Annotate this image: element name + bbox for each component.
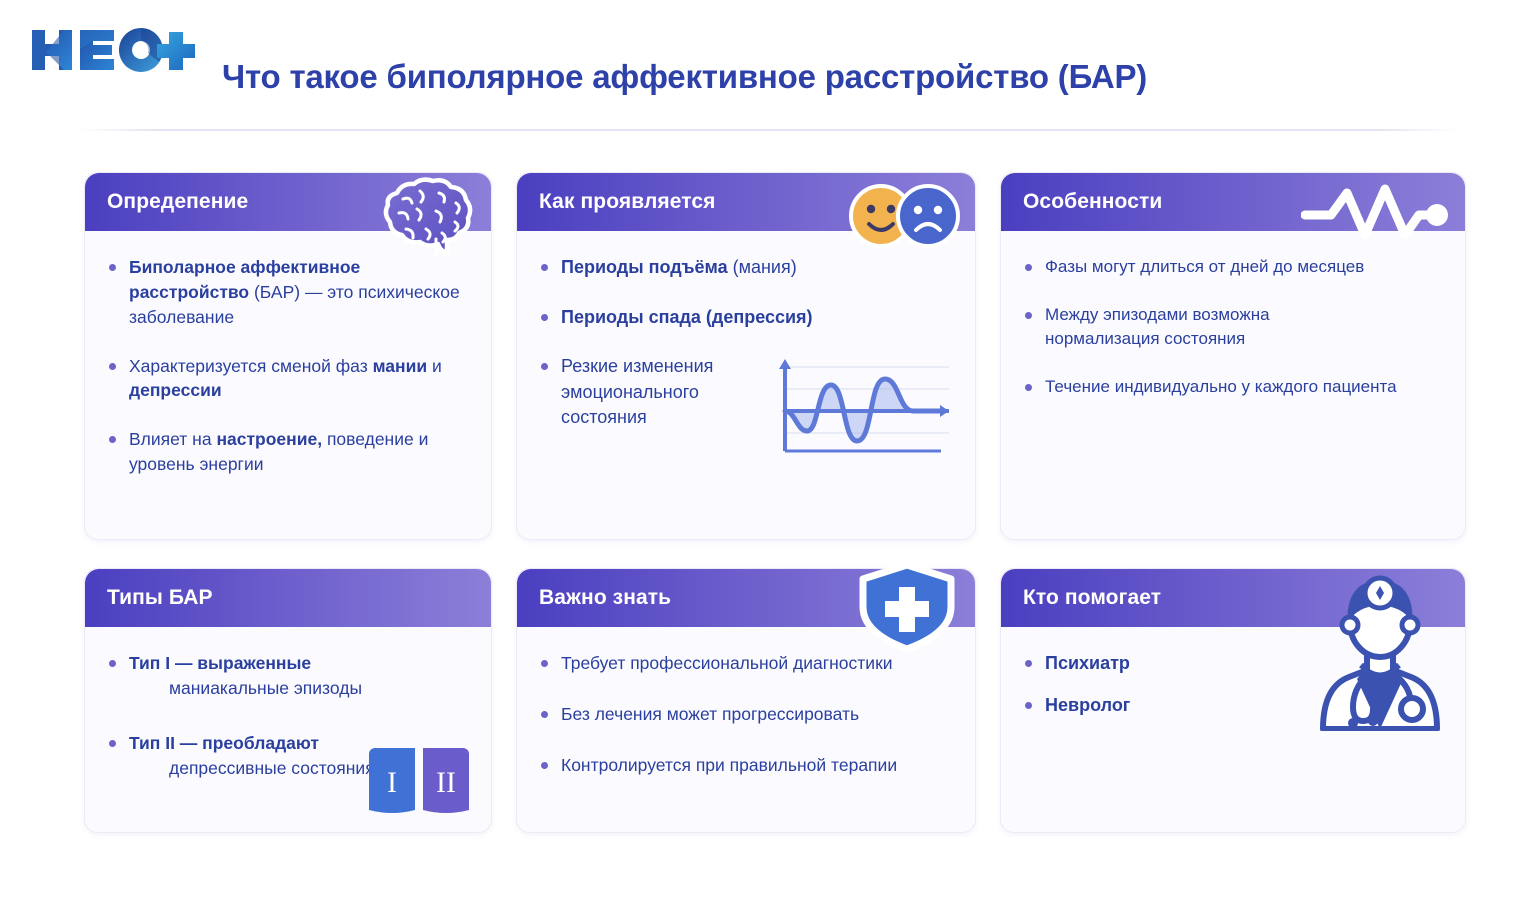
list-item: Течение индивидуально у каждого пациента bbox=[1023, 375, 1445, 399]
card-header-manifestation: Как проявляется bbox=[517, 173, 975, 231]
card-title: Типы БАР bbox=[107, 586, 213, 610]
card-body-who-helps: Психиатр Невролог bbox=[1001, 627, 1465, 750]
card-title: Кто помогает bbox=[1023, 586, 1161, 610]
card-manifestation: Как проявляется Периоды подъёма (мания) … bbox=[516, 172, 976, 540]
bullet-list: Периоды подъёма (мания) Периоды спада (д… bbox=[539, 255, 955, 431]
bullet-list: Требует профессиональной диагностики Без… bbox=[539, 651, 955, 778]
list-item: Периоды подъёма (мания) bbox=[539, 255, 955, 281]
bullet-text-bold: депрессии bbox=[129, 380, 222, 400]
bullet-text: Течение индивидуально у каждого пациента bbox=[1045, 377, 1397, 396]
card-body-types: Тип I — выраженные маниакальные эпизоды … bbox=[85, 627, 491, 826]
cards-grid: Опредепение Биполарное аффективное расст… bbox=[84, 172, 1456, 833]
card-body-features: Фазы могут длиться от дней до месяцев Ме… bbox=[1001, 231, 1465, 440]
card-header-who-helps: Кто помогает bbox=[1001, 569, 1465, 627]
list-item: Контролируется при правильной терапии bbox=[539, 753, 955, 778]
infographic-page: Что такое биполярное аффективное расстро… bbox=[0, 0, 1536, 922]
card-important: Важно знать Требует профессиональной диа… bbox=[516, 568, 976, 833]
card-body-manifestation: Периоды подъёма (мания) Периоды спада (д… bbox=[517, 231, 975, 471]
card-body-definition: Биполарное аффективное расстройство (БАР… bbox=[85, 231, 491, 517]
bullet-text: Резкие изменения эмоционального состояни… bbox=[561, 356, 713, 427]
card-title: Важно знать bbox=[539, 586, 671, 610]
bullet-text-bold: настроение, bbox=[216, 429, 322, 449]
bullet-text-bold: Периоды подъёма bbox=[561, 257, 733, 277]
list-item: Резкие изменения эмоционального состояни… bbox=[539, 354, 789, 431]
list-item: Фазы могут длиться от дней до месяцев bbox=[1023, 255, 1445, 279]
bullet-subtext: депрессивные состояния bbox=[129, 756, 471, 781]
card-who-helps: Кто помогает Психиатр Невролог bbox=[1000, 568, 1466, 833]
bullet-text: и bbox=[427, 356, 442, 376]
header-divider bbox=[78, 129, 1458, 131]
bullet-text-bold: Тип I — выраженные bbox=[129, 653, 311, 673]
list-item: Биполарное аффективное расстройство (БАР… bbox=[107, 255, 471, 330]
list-item: Тип I — выраженные маниакальные эпизоды bbox=[107, 651, 471, 701]
list-item: Требует профессиональной диагностики bbox=[539, 651, 955, 676]
card-header-features: Особенности bbox=[1001, 173, 1465, 231]
bullet-text-bold: Тип II — преобладают bbox=[129, 733, 319, 753]
bullet-text: Между эпизодами возможна нормализация со… bbox=[1045, 305, 1270, 348]
card-title: Особенности bbox=[1023, 190, 1162, 214]
card-header-definition: Опредепение bbox=[85, 173, 491, 231]
list-item: Характеризуется сменой фаз мании и депре… bbox=[107, 354, 471, 404]
card-definition: Опредепение Биполарное аффективное расст… bbox=[84, 172, 492, 540]
bullet-text: (мания) bbox=[733, 257, 797, 277]
list-item: Тип II — преобладают депрессивные состоя… bbox=[107, 731, 471, 781]
list-item: Психиатр bbox=[1023, 651, 1445, 677]
bullet-text: Требует профессиональной диагностики bbox=[561, 653, 893, 673]
list-item: Без лечения может прогрессировать bbox=[539, 702, 955, 727]
list-item: Влияет на настроение, поведение и уровен… bbox=[107, 427, 471, 477]
bullet-list: Психиатр Невролог bbox=[1023, 651, 1445, 718]
bullet-text-bold: Биполарное аффективное bbox=[129, 257, 360, 277]
card-types: Типы БАР Тип I — выраженные маниакальные… bbox=[84, 568, 492, 833]
bullet-text: Контролируется при правильной терапии bbox=[561, 755, 897, 775]
bullet-list: Тип I — выраженные маниакальные эпизоды … bbox=[107, 651, 471, 780]
card-header-types: Типы БАР bbox=[85, 569, 491, 627]
bullet-list: Биполарное аффективное расстройство (БАР… bbox=[107, 255, 471, 477]
neo-plus-logo bbox=[26, 22, 201, 78]
bullet-text: Характеризуется сменой фаз bbox=[129, 356, 373, 376]
list-item: Невролог bbox=[1023, 693, 1445, 719]
list-item: Между эпизодами возможна нормализация со… bbox=[1023, 303, 1323, 351]
bullet-list: Фазы могут длиться от дней до месяцев Ме… bbox=[1023, 255, 1445, 400]
bullet-text: Влияет на bbox=[129, 429, 216, 449]
card-header-important: Важно знать bbox=[517, 569, 975, 627]
bullet-text-bold: мании bbox=[373, 356, 428, 376]
page-title: Что такое биполярное аффективное расстро… bbox=[222, 58, 1147, 96]
card-title: Как проявляется bbox=[539, 190, 715, 214]
list-item: Периоды спада (депрессия) bbox=[539, 305, 955, 331]
bullet-subtext: маниакальные эпизоды bbox=[129, 676, 471, 701]
bullet-text: Фазы могут длиться от дней до месяцев bbox=[1045, 257, 1364, 276]
card-body-important: Требует профессиональной диагностики Без… bbox=[517, 627, 975, 820]
bullet-text-bold: Психиатр bbox=[1045, 653, 1130, 673]
card-title: Опредепение bbox=[107, 190, 248, 214]
bullet-text-bold: расстройство bbox=[129, 282, 254, 302]
bullet-text: Без лечения может прогрессировать bbox=[561, 704, 859, 724]
bullet-text-bold: Невролог bbox=[1045, 695, 1130, 715]
bullet-text-bold: Периоды спада (депрессия) bbox=[561, 307, 813, 327]
card-features: Особенности Фазы могут длиться от дней д… bbox=[1000, 172, 1466, 540]
